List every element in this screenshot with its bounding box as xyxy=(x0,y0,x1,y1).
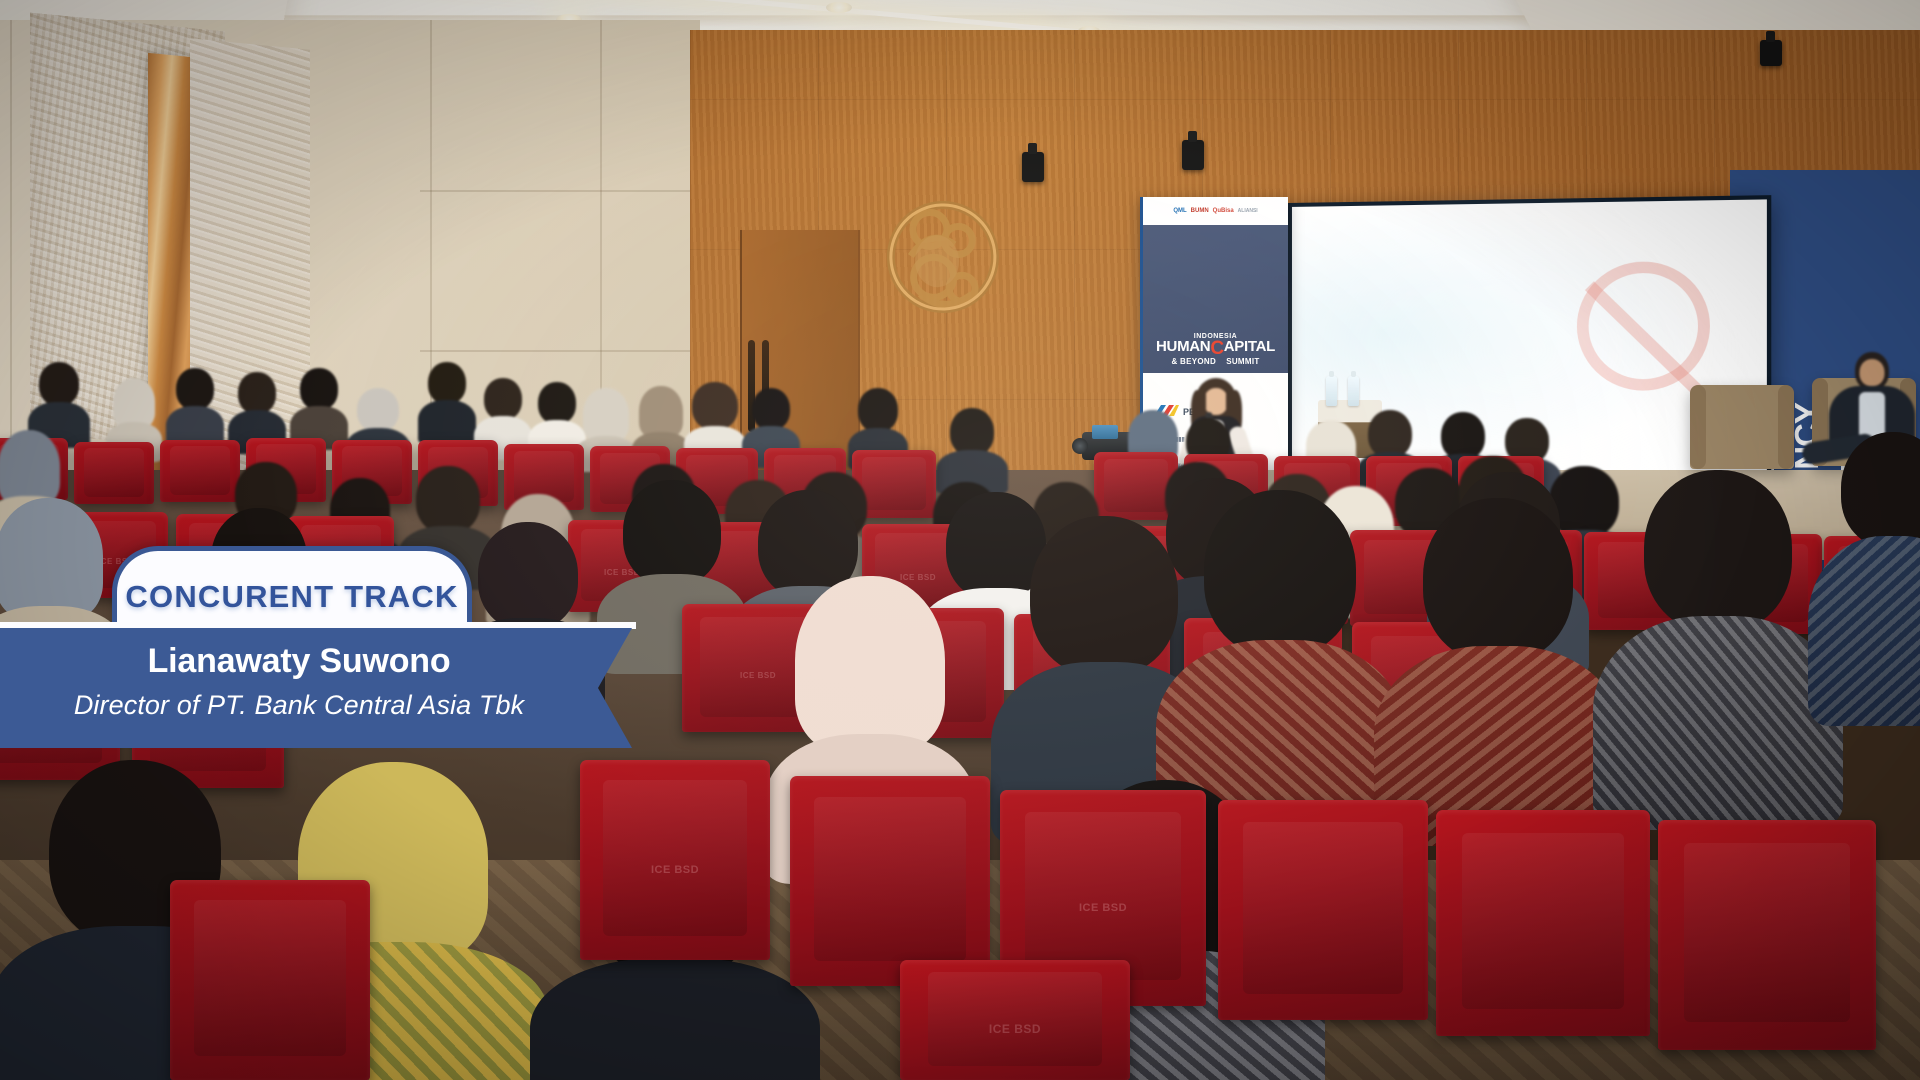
seat-logo: ICE BSD xyxy=(651,864,699,876)
sponsor-logo: ALIANSI xyxy=(1238,208,1258,214)
sponsor-logo: QML xyxy=(1173,208,1186,214)
rollup-title-block: INDONESIA HUMANCAPITAL & BEYOND SUMMIT xyxy=(1143,225,1288,373)
sponsor-logo: QuBisa xyxy=(1213,208,1234,214)
rollup-capital-c: C xyxy=(1210,340,1223,358)
stage-armchair xyxy=(1690,385,1794,469)
name-bar-top-edge xyxy=(0,622,636,629)
track-label-pill: CONCURENT TRACK xyxy=(112,546,472,634)
rollup-summit-word: SUMMIT xyxy=(1226,357,1259,366)
camera-lens xyxy=(1072,438,1088,454)
seat-logo: ICE BSD xyxy=(1079,902,1127,914)
gold-medallion-ornament xyxy=(882,183,1003,337)
speaker-title: Director of PT. Bank Central Asia Tbk xyxy=(0,690,598,721)
water-bottle xyxy=(1326,376,1337,406)
speaker-name: Lianawaty Suwono xyxy=(0,642,598,681)
stage-spotlight xyxy=(1022,152,1044,182)
lower-third-overlay: CONCURENT TRACK Lianawaty Suwono Directo… xyxy=(0,546,820,766)
rollup-human-word: HUMAN xyxy=(1156,338,1210,355)
rollup-apital-word: APITAL xyxy=(1224,338,1275,355)
camera-viewfinder-screen xyxy=(1092,425,1118,439)
seat-logo: ICE BSD xyxy=(989,1022,1041,1036)
stage-spotlight xyxy=(1760,40,1782,66)
downlight-icon xyxy=(826,2,852,13)
rollup-sponsor-row: QML BUMN QuBisa ALIANSI xyxy=(1143,197,1288,225)
speaker-name-bar: Lianawaty Suwono Director of PT. Bank Ce… xyxy=(0,628,632,748)
rollup-beyond-word: & BEYOND xyxy=(1171,357,1216,366)
rollup-line-human-capital: HUMANCAPITAL xyxy=(1143,340,1288,358)
prohibition-sign-icon xyxy=(1577,261,1710,391)
conference-photo-screenshot: GITAL PETENCY AI IN THE QML BUMN QuBisa … xyxy=(0,0,1920,1080)
stage-spotlight xyxy=(1182,140,1204,170)
rollup-line-beyond-summit: & BEYOND SUMMIT xyxy=(1143,358,1288,366)
water-bottle xyxy=(1348,376,1359,406)
track-label-text: CONCURENT TRACK xyxy=(125,579,458,615)
sponsor-logo: BUMN xyxy=(1191,208,1209,214)
